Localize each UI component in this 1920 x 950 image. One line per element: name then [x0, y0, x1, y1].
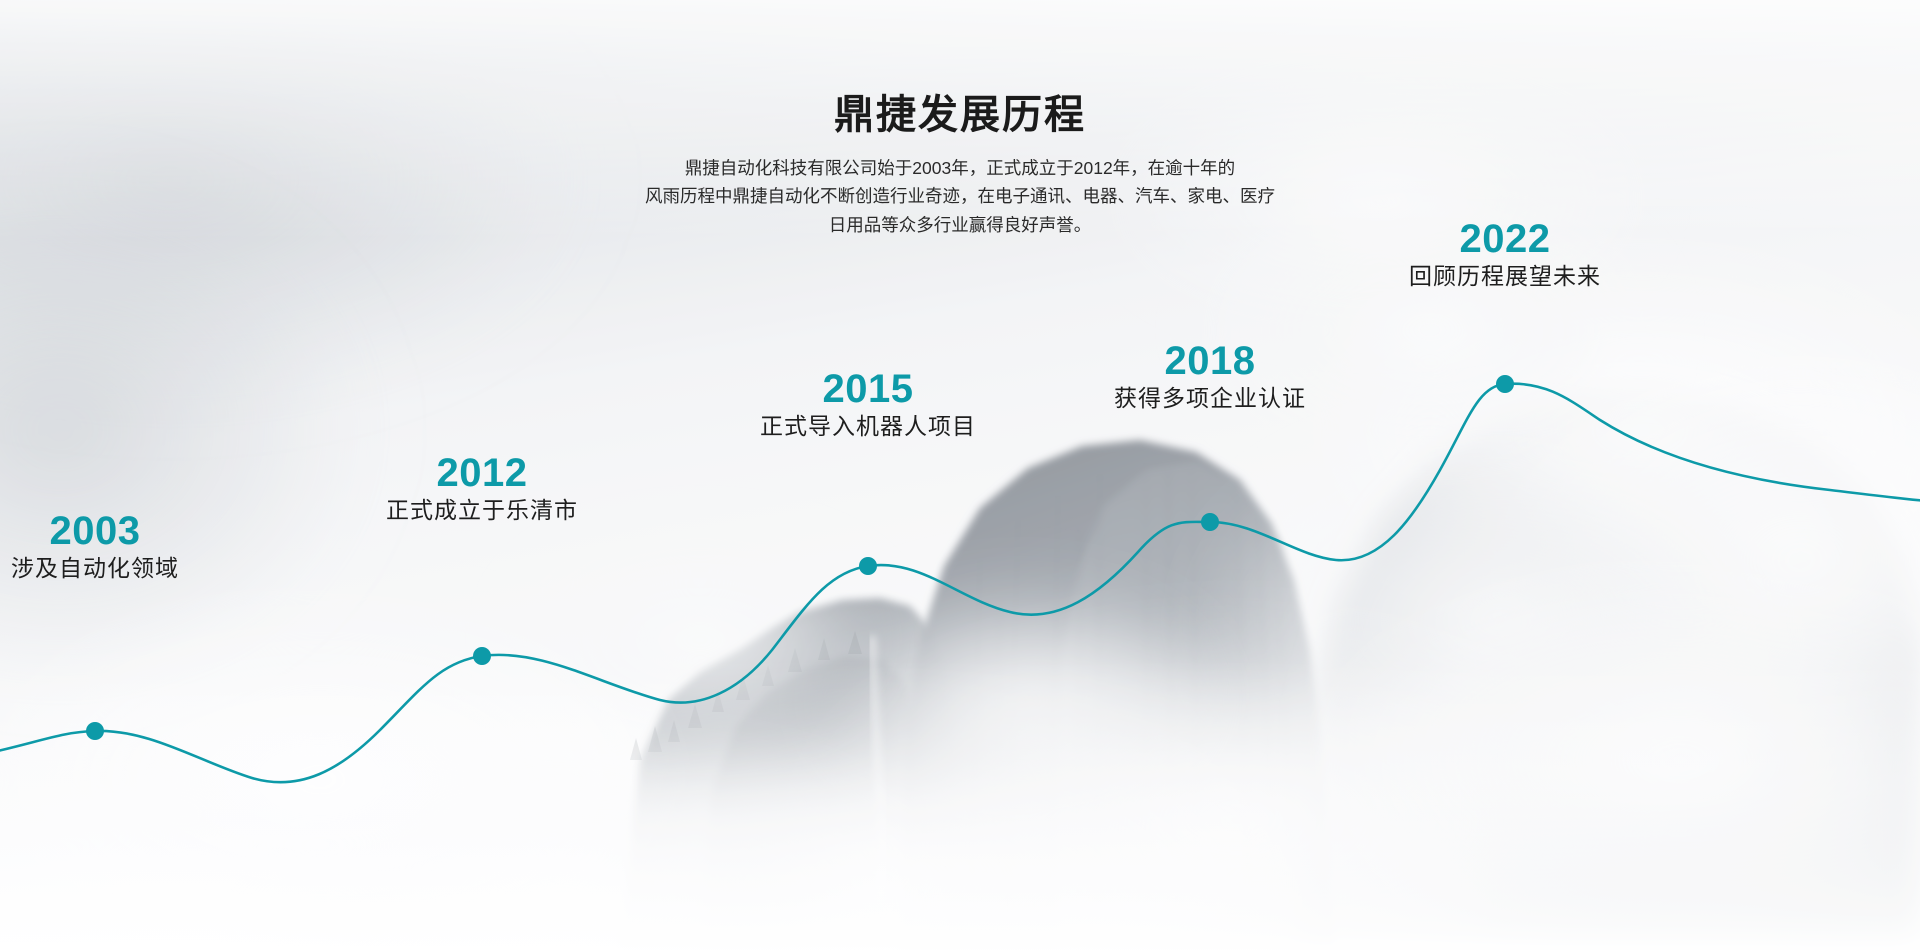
milestone-2012[interactable]: 2012正式成立于乐清市: [386, 452, 578, 526]
milestone-2018[interactable]: 2018获得多项企业认证: [1114, 340, 1306, 414]
milestone-year: 2018: [1114, 340, 1306, 382]
milestone-year: 2003: [11, 510, 179, 552]
subtitle-line-3: 日用品等众多行业赢得良好声誉。: [0, 211, 1920, 239]
milestone-description: 正式导入机器人项目: [760, 412, 976, 442]
timeline-infographic: 鼎捷发展历程 鼎捷自动化科技有限公司始于2003年，正式成立于2012年，在逾十…: [0, 0, 1920, 950]
page-title: 鼎捷发展历程: [0, 92, 1920, 138]
milestone-2003[interactable]: 2003涉及自动化领域: [11, 510, 179, 584]
milestone-year: 2015: [760, 368, 976, 410]
milestone-description: 回顾历程展望未来: [1409, 262, 1601, 292]
subtitle-line-2: 风雨历程中鼎捷自动化不断创造行业奇迹，在电子通讯、电器、汽车、家电、医疗: [0, 182, 1920, 210]
milestone-2015[interactable]: 2015正式导入机器人项目: [760, 368, 976, 442]
milestone-year: 2012: [386, 452, 578, 494]
page-subtitle: 鼎捷自动化科技有限公司始于2003年，正式成立于2012年，在逾十年的 风雨历程…: [0, 154, 1920, 239]
milestone-description: 正式成立于乐清市: [386, 496, 578, 526]
milestone-description: 涉及自动化领域: [11, 554, 179, 584]
milestone-description: 获得多项企业认证: [1114, 384, 1306, 414]
subtitle-line-1: 鼎捷自动化科技有限公司始于2003年，正式成立于2012年，在逾十年的: [0, 154, 1920, 182]
header: 鼎捷发展历程 鼎捷自动化科技有限公司始于2003年，正式成立于2012年，在逾十…: [0, 92, 1920, 239]
